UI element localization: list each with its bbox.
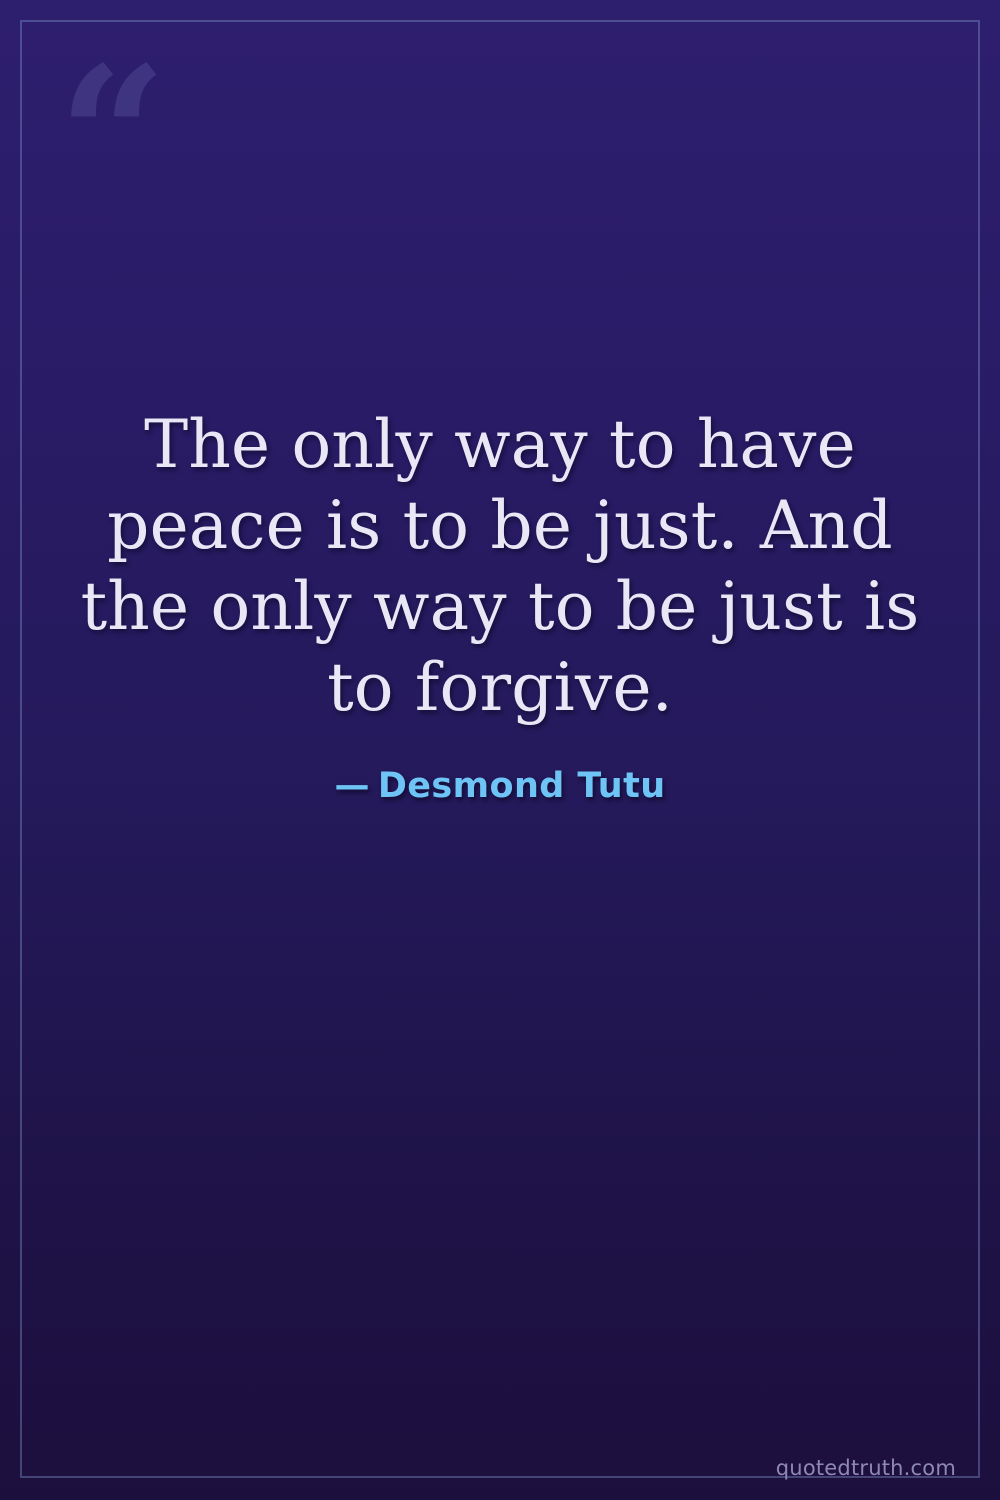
author-name: Desmond Tutu — [378, 766, 666, 806]
quote-content: The only way to have peace is to be just… — [0, 0, 1000, 1210]
quote-card: “ The only way to have peace is to be ju… — [0, 0, 1000, 1500]
site-watermark: quotedtruth.com — [776, 1456, 956, 1480]
quote-attribution: —Desmond Tutu — [334, 766, 665, 806]
em-dash-icon: — — [334, 766, 369, 806]
quote-text: The only way to have peace is to be just… — [76, 404, 924, 728]
